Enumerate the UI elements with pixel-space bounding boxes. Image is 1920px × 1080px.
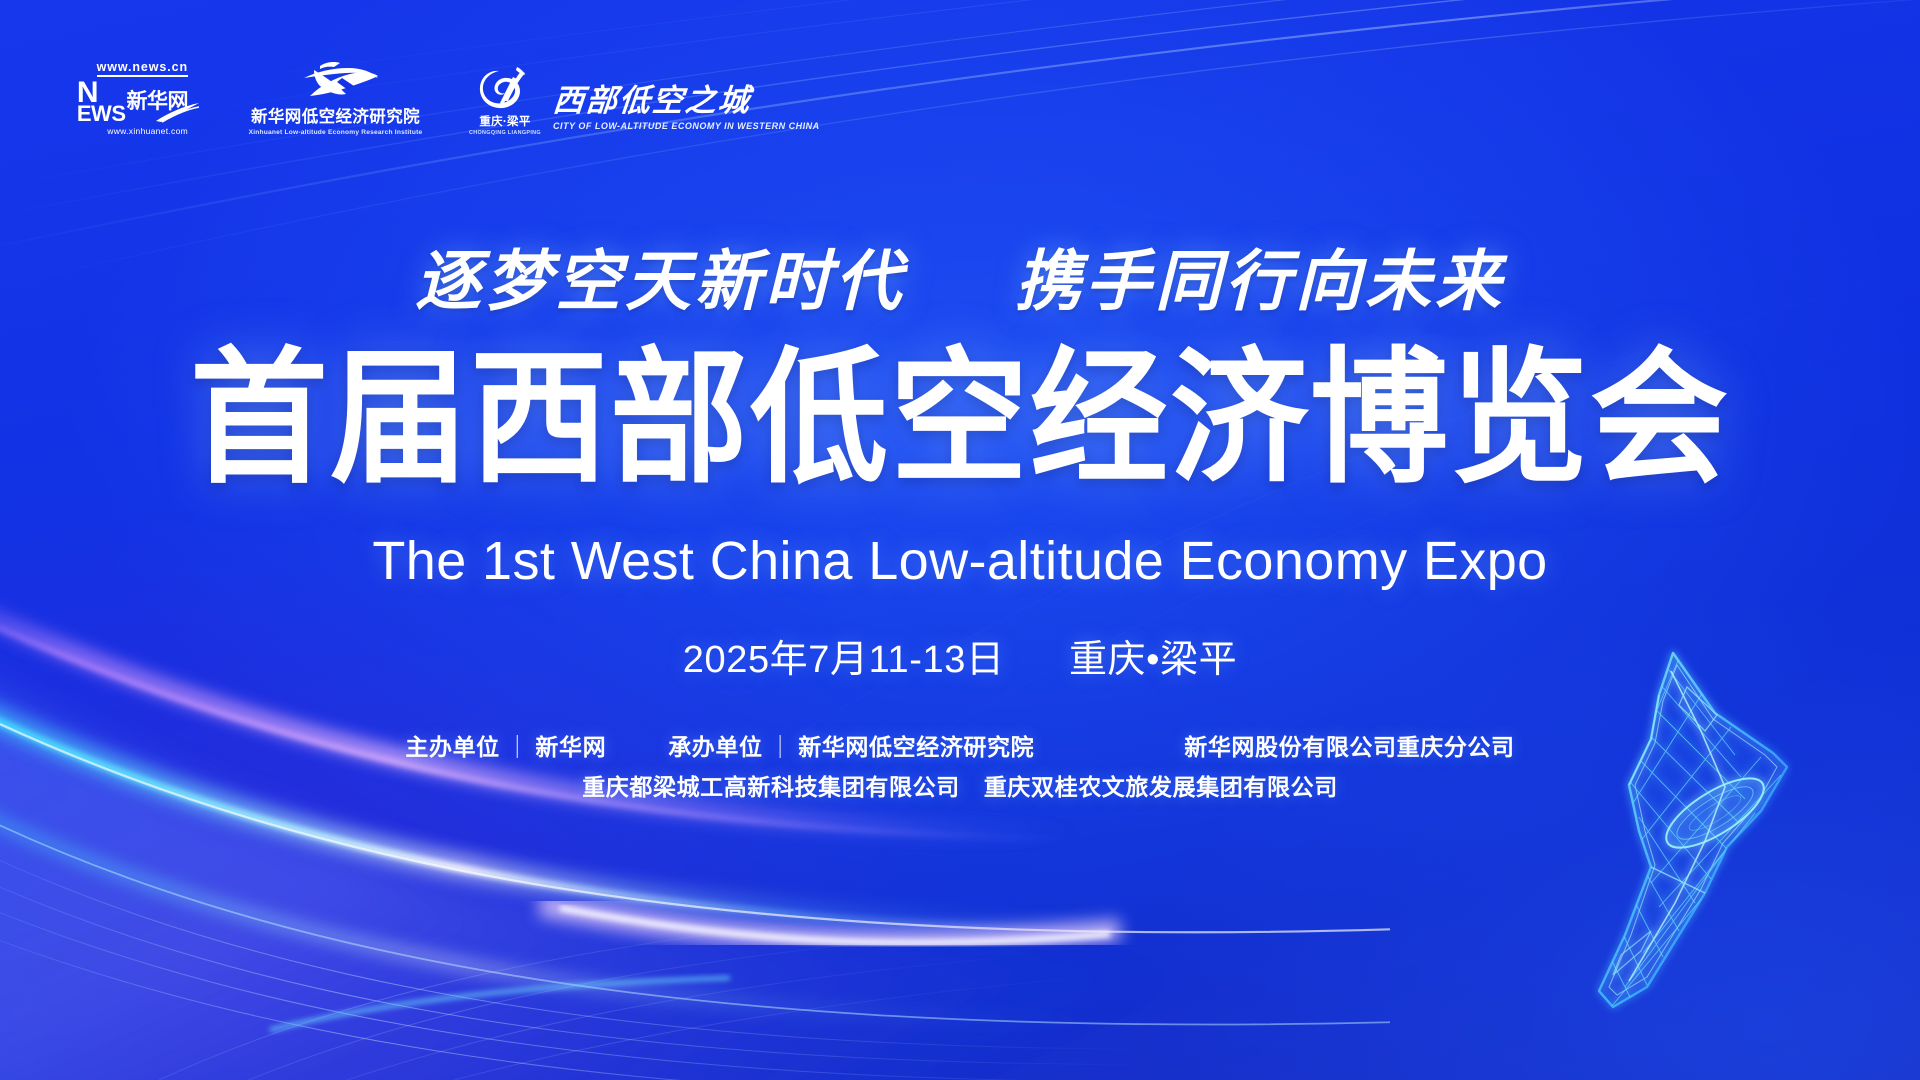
xinhuanet-url-bottom: www.xinhuanet.com	[107, 126, 188, 136]
event-date: 2025年7月11-13日	[683, 639, 1005, 681]
city-low-altitude-en: CITY OF LOW-ALTITUDE ECONOMY IN WESTERN …	[553, 121, 820, 131]
sponsor-logo-bar: www.news.cn N EWS 新华网 www.xinhuanet.com	[58, 52, 820, 136]
xinhuanet-url-top: www.news.cn	[97, 61, 188, 77]
host-divider: ｜	[500, 730, 536, 764]
research-institute-mark-icon	[290, 56, 382, 100]
research-institute-logo[interactable]: 新华网低空经济研究院 Xinhuanet Low-altitude Econom…	[233, 56, 438, 136]
wireframe-stealth-aircraft	[1555, 635, 1885, 1025]
liangping-badge-en: CHONGQING LIANGPING	[469, 130, 541, 136]
coorganizer-3: 重庆双桂农文旅发展集团有限公司	[984, 770, 1338, 804]
city-low-altitude-logo[interactable]: 重庆·梁平 CHONGQING LIANGPING 西部低空之城 CITY OF…	[466, 65, 820, 136]
xinhuanet-word-news: EWS	[77, 105, 126, 123]
host-value: 新华网	[535, 730, 606, 764]
xinhuanet-wordmark: N EWS 新华网	[77, 79, 188, 125]
organizer-label: 承办单位	[668, 730, 762, 764]
organizer-divider: ｜	[763, 730, 799, 764]
xinhuanet-swoosh-icon	[154, 101, 200, 123]
xinhuanet-logo[interactable]: www.news.cn N EWS 新华网 www.xinhuanet.com	[58, 61, 188, 136]
research-institute-en-name: Xinhuanet Low-altitude Economy Research …	[249, 129, 423, 136]
liangping-emblem-icon	[477, 65, 533, 111]
organizers-block: 主办单位 ｜ 新华网 承办单位 ｜ 新华网低空经济研究院 新华网股份有限公司重庆…	[0, 730, 1920, 804]
organizers-row-2: 重庆都梁城工高新科技集团有限公司 重庆双桂农文旅发展集团有限公司	[0, 770, 1920, 804]
coorganizer-2: 重庆都梁城工高新科技集团有限公司	[582, 770, 960, 804]
chongqing-liangping-badge: 重庆·梁平 CHONGQING LIANGPING	[466, 65, 544, 136]
page-title: 首届西部低空经济博览会	[0, 346, 1920, 492]
slogan-left: 逐梦空天新时代	[415, 242, 905, 320]
city-low-altitude-names: 西部低空之城 CITY OF LOW-ALTITUDE ECONOMY IN W…	[553, 85, 820, 136]
event-location: 重庆•梁平	[1069, 639, 1237, 681]
coorganizer-1: 新华网股份有限公司重庆分公司	[1184, 730, 1514, 764]
hero-subtitle-en: The 1st West China Low-altitude Economy …	[0, 530, 1920, 592]
city-low-altitude-cn: 西部低空之城	[552, 85, 821, 116]
research-institute-cn-name: 新华网低空经济研究院	[251, 103, 420, 127]
event-date-location: 2025年7月11-13日 重庆•梁平	[0, 628, 1920, 683]
organizer-value: 新华网低空经济研究院	[798, 730, 1034, 764]
poster-canvas: www.news.cn N EWS 新华网 www.xinhuanet.com	[0, 0, 1920, 1080]
liangping-badge-cn: 重庆·梁平	[479, 113, 530, 129]
hero-slogan: 逐梦空天新时代 携手同行向未来	[0, 248, 1920, 314]
organizers-row-1: 主办单位 ｜ 新华网 承办单位 ｜ 新华网低空经济研究院 新华网股份有限公司重庆…	[0, 730, 1920, 764]
slogan-right: 携手同行向未来	[1015, 242, 1505, 320]
host-label: 主办单位	[405, 730, 499, 764]
